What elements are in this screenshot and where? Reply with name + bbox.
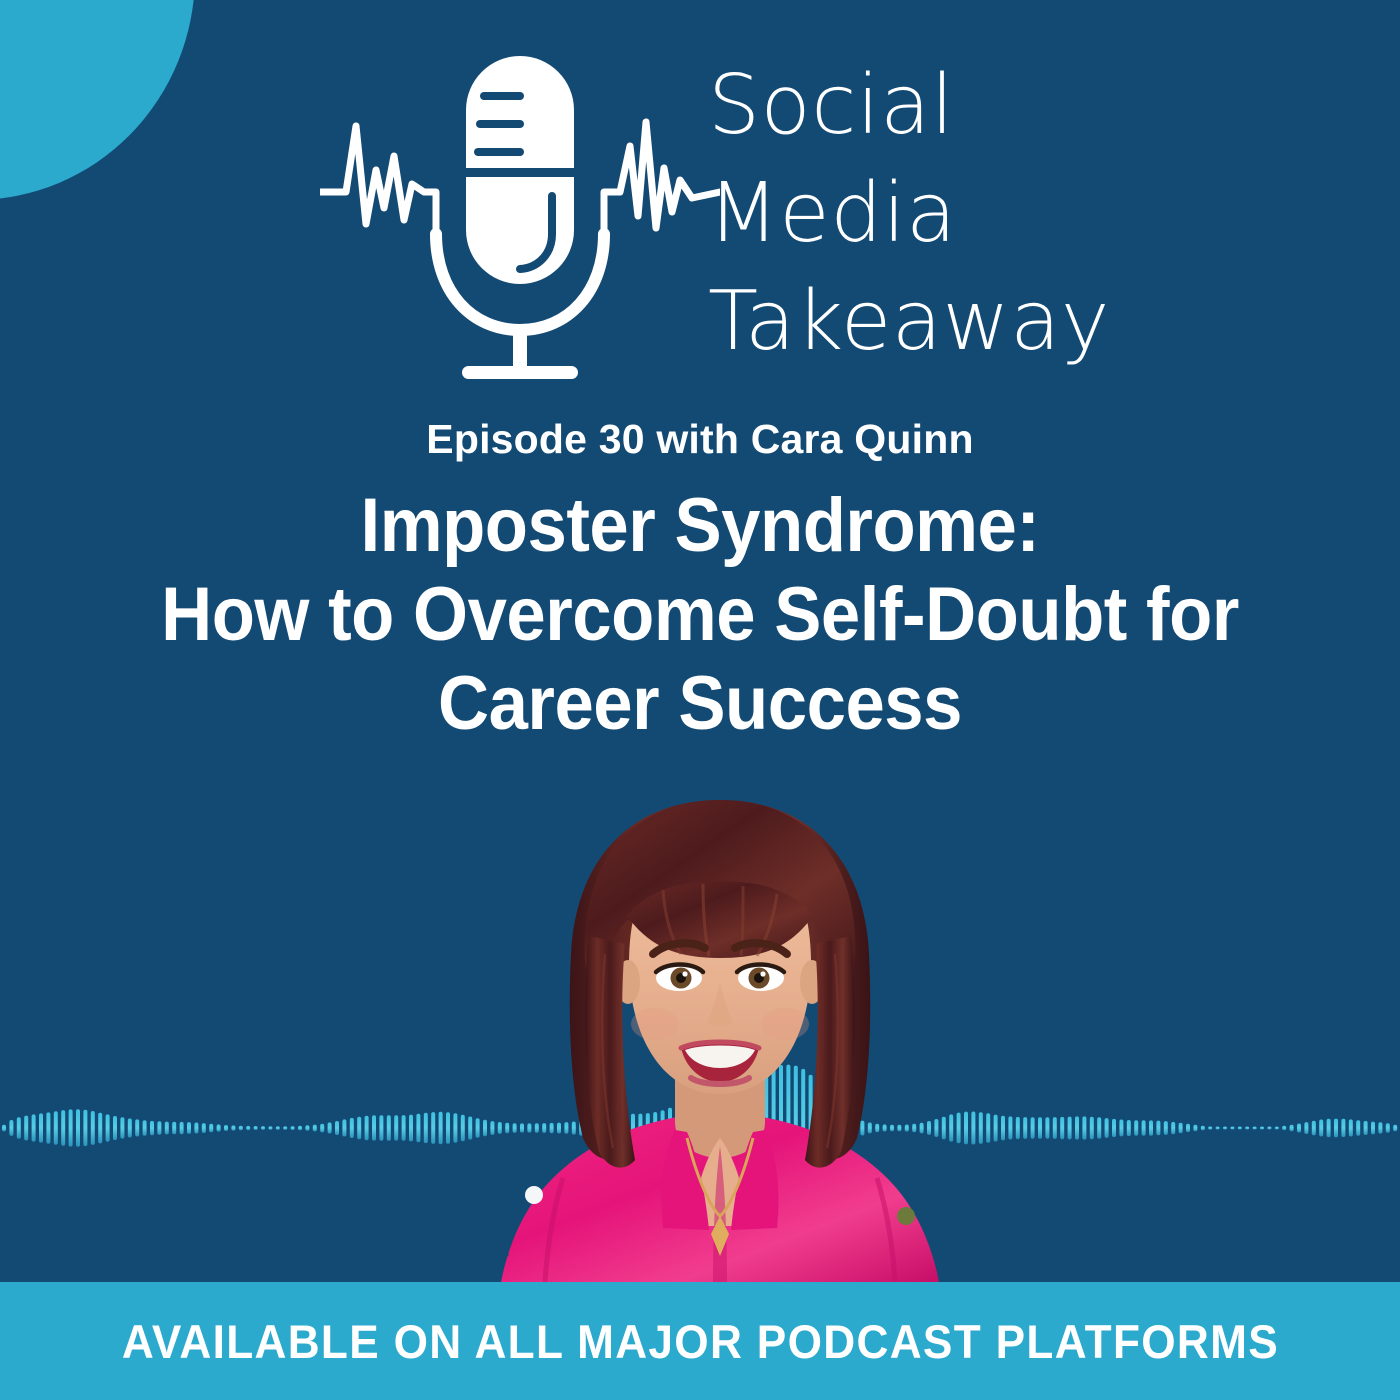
episode-meta: Episode 30 with Cara Quinn bbox=[0, 416, 1400, 463]
podcast-logo: Social Media Takeaway bbox=[0, 48, 1400, 388]
logo-line-3: Takeaway bbox=[708, 268, 1088, 376]
microphone-waveform-icon bbox=[320, 48, 720, 388]
logo-wordmark: Social Media Takeaway bbox=[708, 52, 1088, 377]
logo-line-1: Social bbox=[708, 52, 1088, 160]
episode-title-line-1: Imposter Syndrome: bbox=[49, 482, 1351, 571]
host-portrait bbox=[413, 786, 1027, 1282]
availability-banner-text: AVAILABLE ON ALL MAJOR PODCAST PLATFORMS bbox=[121, 1314, 1278, 1369]
logo-line-2: Media bbox=[708, 160, 1088, 268]
episode-title: Imposter Syndrome: How to Overcome Self-… bbox=[49, 482, 1351, 749]
podcast-cover-art: Social Media Takeaway Episode 30 with Ca… bbox=[0, 0, 1400, 1400]
episode-title-line-2: How to Overcome Self-Doubt for bbox=[49, 571, 1351, 660]
availability-banner: AVAILABLE ON ALL MAJOR PODCAST PLATFORMS bbox=[0, 1282, 1400, 1400]
episode-title-line-3: Career Success bbox=[49, 660, 1351, 749]
